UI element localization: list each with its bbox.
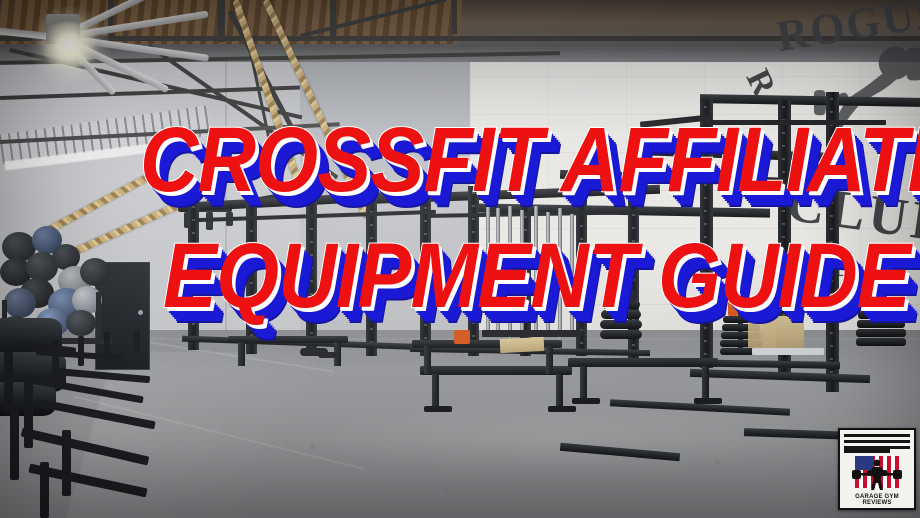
- ceiling-post: [330, 0, 336, 38]
- gym-photo-background: ROGUE R CLUB Est. 20: [0, 0, 920, 518]
- logo-caption: GARAGE GYM REVIEWS: [840, 494, 914, 506]
- door-knob: [138, 310, 143, 315]
- orange-equipment: [728, 300, 738, 316]
- garage-gym-reviews-logo: GARAGE GYM REVIEWS: [838, 428, 916, 510]
- orange-equipment: [454, 330, 470, 344]
- mural-bottom-text: CLUB: [782, 171, 920, 256]
- hero-image: ROGUE R CLUB Est. 20: [0, 0, 920, 518]
- ceiling-post: [452, 0, 457, 34]
- lumber-stack: [500, 337, 545, 353]
- garage-door-panel-icon: [844, 446, 890, 453]
- lumber-stack: [748, 300, 776, 348]
- ceiling-post: [218, 0, 225, 42]
- fan-light: [36, 22, 102, 68]
- weightlifter-icon: [851, 457, 903, 491]
- floor-accessory: [318, 352, 338, 358]
- mural-est-text: Est. 20: [834, 257, 895, 282]
- floor-mat-edge: [752, 348, 824, 355]
